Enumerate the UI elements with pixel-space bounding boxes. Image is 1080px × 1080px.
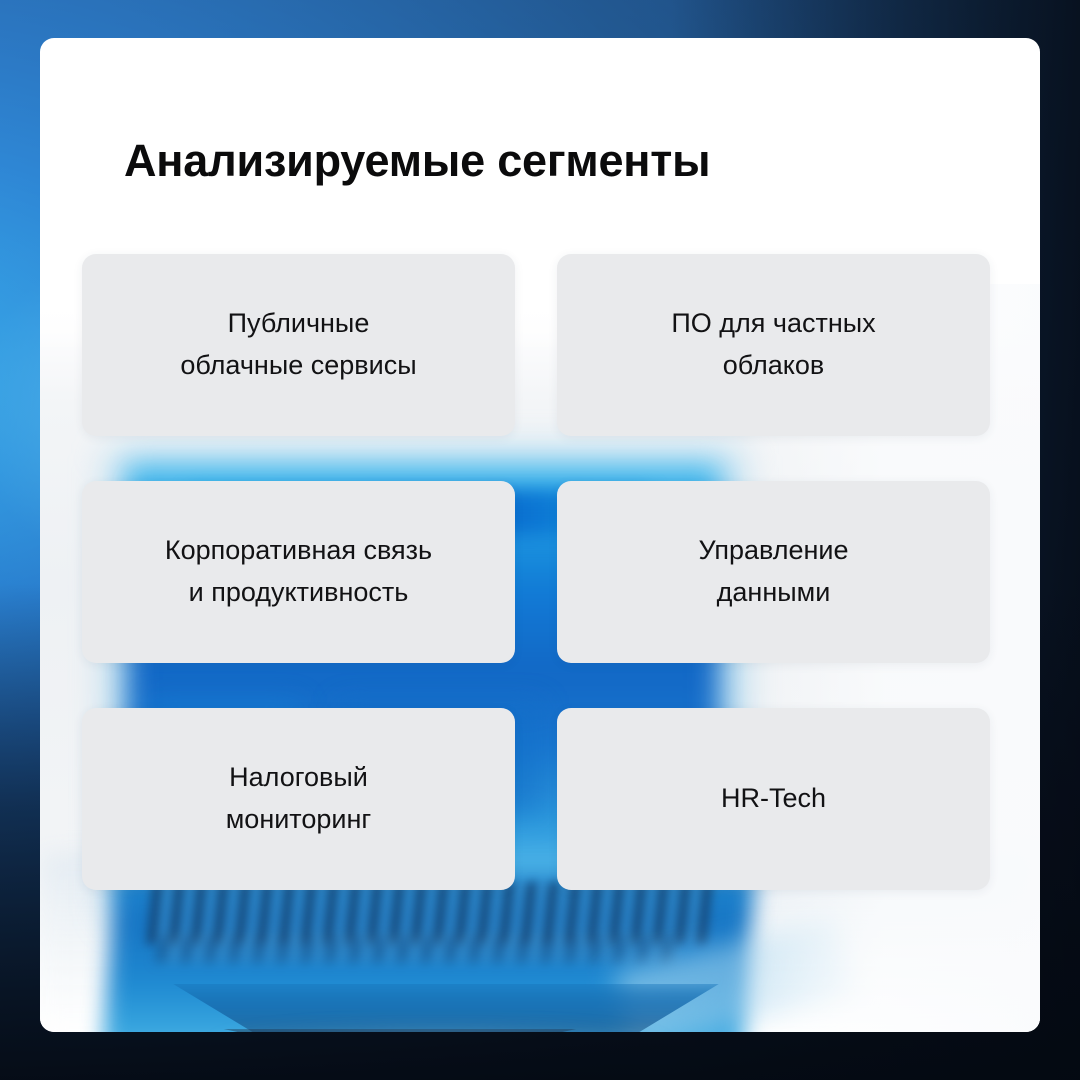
laptop-keyboard [147, 882, 714, 944]
segments-grid: Публичные облачные сервисы ПО для частны… [82, 254, 998, 890]
segment-card-private-cloud-software[interactable]: ПО для частных облаков [557, 254, 990, 436]
laptop-keyboard-row [157, 936, 680, 962]
segment-label: ПО для частных облаков [645, 303, 901, 387]
segment-label: HR-Tech [695, 778, 852, 820]
content-card: Анализируемые сегменты Публичные облачны… [40, 38, 1040, 1032]
segment-card-hr-tech[interactable]: HR-Tech [557, 708, 990, 890]
segment-label: Корпоративная связь и продуктивность [139, 530, 458, 614]
slide-root: Анализируемые сегменты Публичные облачны… [0, 0, 1080, 1080]
laptop-shadow [120, 1024, 760, 1032]
segment-card-tax-monitoring[interactable]: Налоговый мониторинг [82, 708, 515, 890]
segment-card-corporate-communication[interactable]: Корпоративная связь и продуктивность [82, 481, 515, 663]
segment-label: Публичные облачные сервисы [154, 303, 442, 387]
segment-label: Управление данными [672, 530, 874, 614]
segment-label: Налоговый мониторинг [200, 757, 398, 841]
page-title: Анализируемые сегменты [124, 135, 710, 187]
segment-card-data-management[interactable]: Управление данными [557, 481, 990, 663]
segment-card-public-cloud-services[interactable]: Публичные облачные сервисы [82, 254, 515, 436]
